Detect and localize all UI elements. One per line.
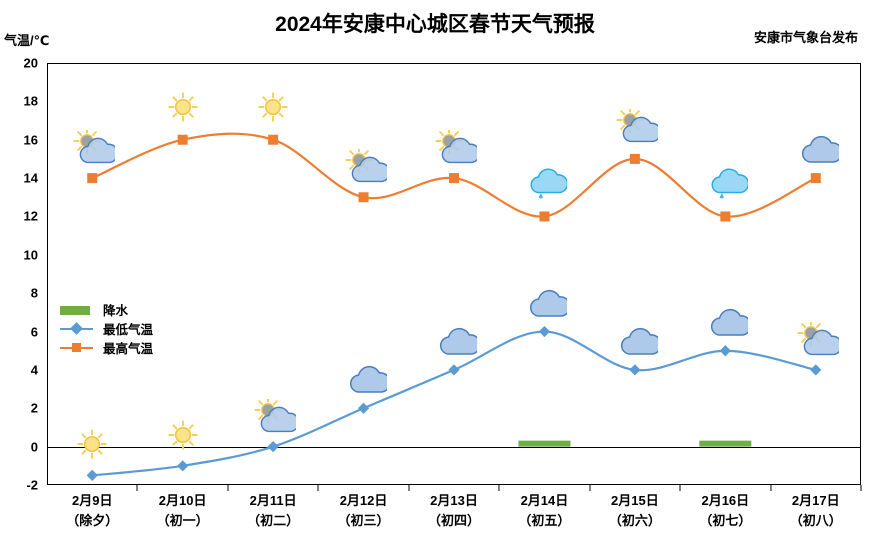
y-tick-label: -2	[2, 478, 38, 493]
sun-cloud-icon	[612, 109, 658, 143]
sun-cloud-icon	[69, 130, 115, 164]
cloud-icon	[612, 322, 658, 356]
x-tick-label: 2月16日（初七）	[679, 491, 771, 531]
x-tick-label: 2月17日（初八）	[770, 491, 862, 531]
y-tick-label: 4	[2, 362, 38, 377]
legend-label-max-temp: 最高气温	[103, 338, 153, 357]
y-tick-label: 18	[2, 94, 38, 109]
weather-forecast-chart: 2024年安康中心城区春节天气预报 安康市气象台发布 气温/℃ -2024681…	[0, 0, 870, 541]
y-tick-label: 8	[2, 286, 38, 301]
page-title: 2024年安康中心城区春节天气预报	[0, 8, 870, 38]
sun-cloud-icon	[250, 399, 296, 433]
sun-icon	[69, 427, 115, 461]
rain-icon	[521, 165, 567, 199]
y-tick-label: 6	[2, 324, 38, 339]
sun-cloud-icon	[341, 149, 387, 183]
y-tick-label: 10	[2, 247, 38, 262]
legend-item-min-temp: 最低气温	[58, 319, 153, 338]
x-tick-label: 2月10日（初一）	[137, 491, 229, 531]
y-tick-label: 12	[2, 209, 38, 224]
cloud-icon	[431, 322, 477, 356]
cloud-icon	[793, 130, 839, 164]
precip-swatch-icon	[58, 303, 98, 317]
x-tick-label: 2月12日（初三）	[318, 491, 410, 531]
cloud-icon	[702, 303, 748, 337]
legend-item-precip: 降水	[58, 300, 153, 319]
x-tick-label: 2月13日（初四）	[408, 491, 500, 531]
y-tick-label: 16	[2, 132, 38, 147]
x-tick-label: 2月9日（除夕）	[46, 491, 138, 531]
y-tick-label: 14	[2, 171, 38, 186]
sun-cloud-icon	[431, 130, 477, 164]
publisher-label: 安康市气象台发布	[754, 27, 858, 46]
min-temp-swatch-icon	[58, 322, 98, 336]
x-tick-label: 2月15日（初六）	[589, 491, 681, 531]
y-tick-label: 2	[2, 401, 38, 416]
sun-cloud-icon	[793, 322, 839, 356]
sun-icon	[160, 90, 206, 124]
sun-icon	[160, 418, 206, 452]
rain-icon	[702, 165, 748, 199]
x-tick-label: 2月14日（初五）	[498, 491, 590, 531]
y-tick-label: 20	[2, 56, 38, 71]
cloud-icon	[521, 284, 567, 318]
legend-label-precip: 降水	[103, 300, 128, 319]
sun-icon	[250, 90, 296, 124]
legend: 降水 最低气温 最高气温	[58, 300, 153, 357]
max-temp-swatch-icon	[58, 341, 98, 355]
legend-label-min-temp: 最低气温	[103, 319, 153, 338]
cloud-icon	[341, 360, 387, 394]
legend-item-max-temp: 最高气温	[58, 338, 153, 357]
y-tick-label: 0	[2, 439, 38, 454]
x-tick-label: 2月11日（初二）	[227, 491, 319, 531]
y-axis-title: 气温/℃	[4, 30, 49, 49]
